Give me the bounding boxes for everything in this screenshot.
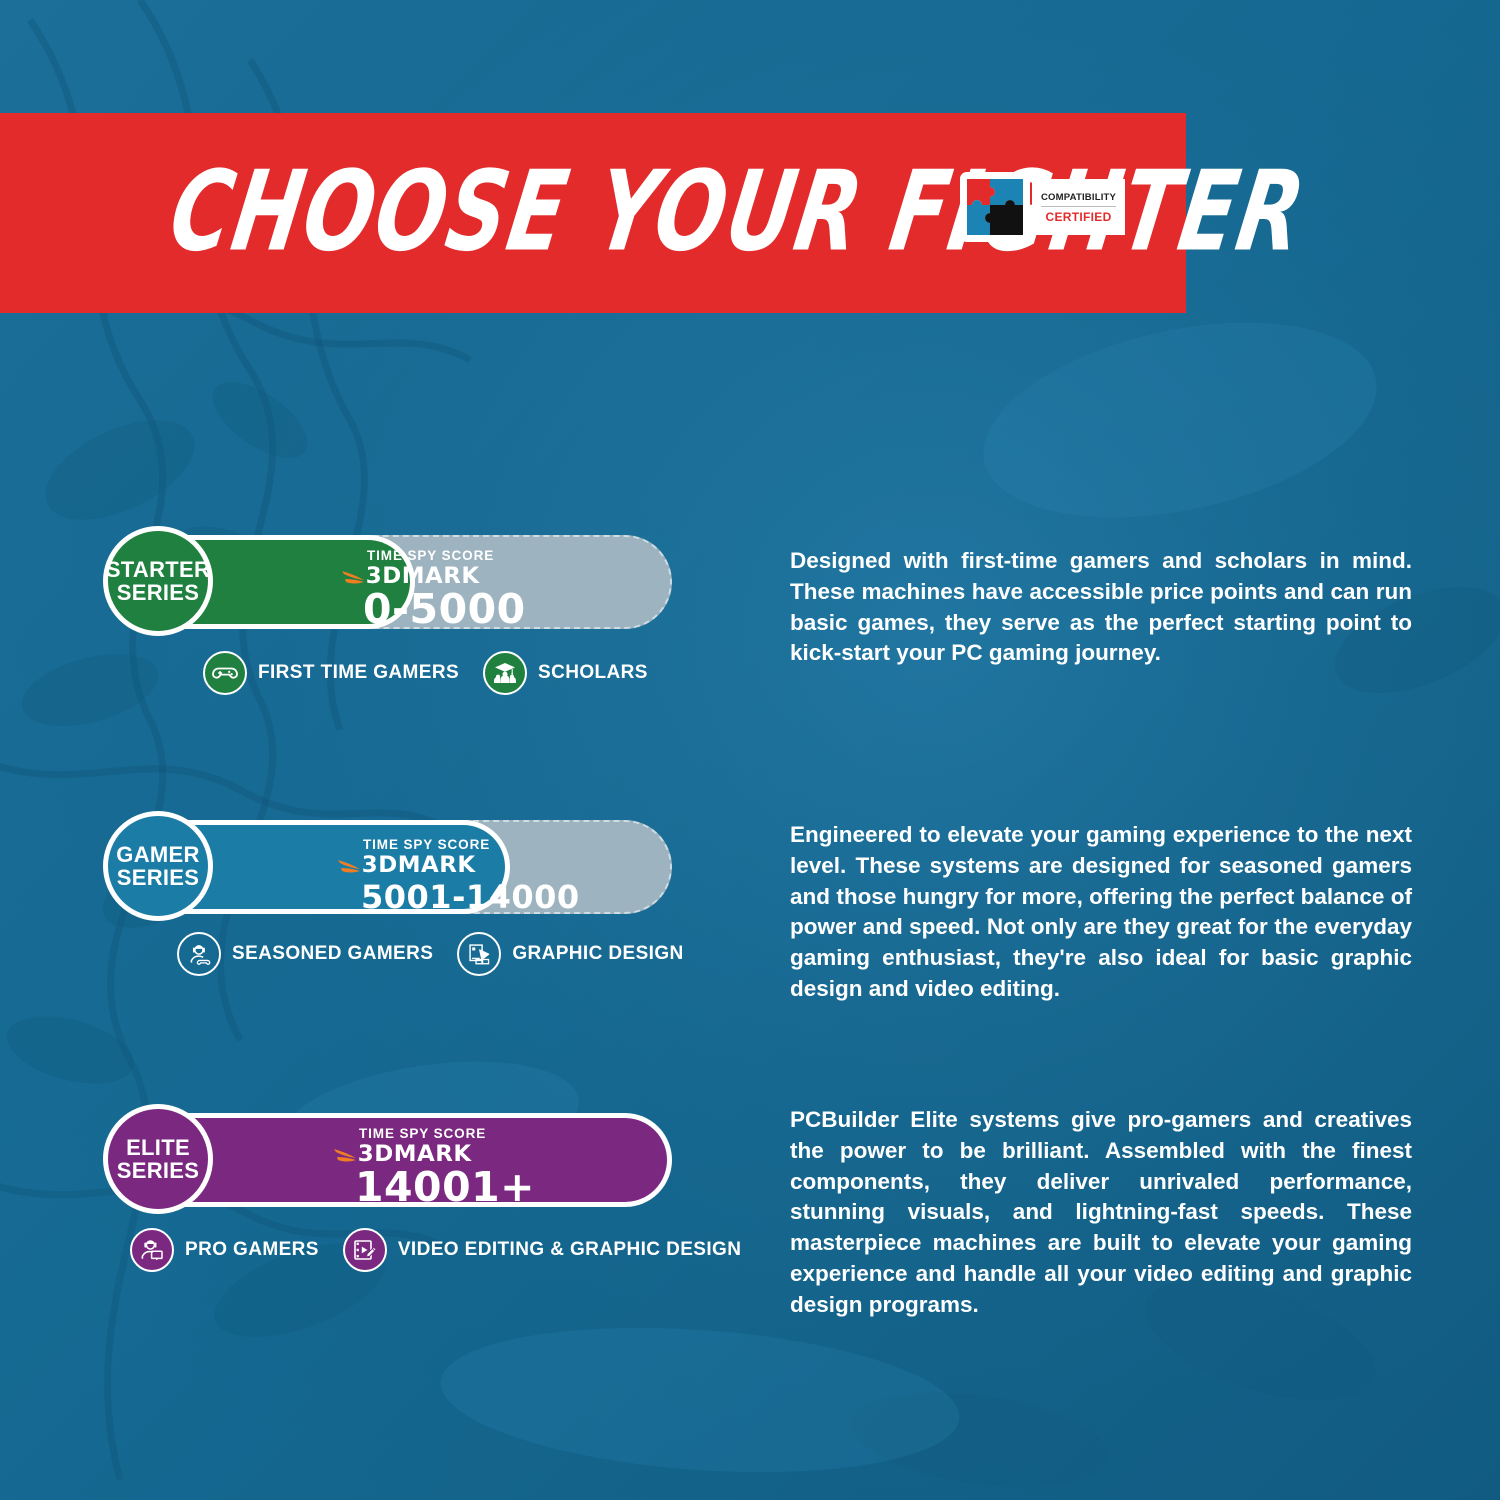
tag-scholars[interactable]: SCHOLARS <box>483 651 648 695</box>
tag-label: GRAPHIC DESIGN <box>512 943 683 965</box>
gamer-tags: SEASONED GAMERS GRAPHIC DESIGN <box>177 932 708 976</box>
elite-3dmark-logo: 3DMARK <box>333 1144 469 1166</box>
starter-name-line1: STARTER <box>106 558 210 581</box>
elite-score-label: TIME SPY SCORE <box>359 1127 486 1141</box>
page-title: CHOOSE YOUR FIGHTER <box>163 158 1312 269</box>
starter-bar[interactable]: STARTER SERIES TIME SPY SCORE 3DMARK 0-5… <box>105 535 672 629</box>
seasoned-gamer-icon <box>177 932 221 976</box>
gamer-score-label: TIME SPY SCORE <box>363 838 490 852</box>
gamer-bar[interactable]: GAMER SERIES TIME SPY SCORE 3DMARK 5001-… <box>105 820 672 914</box>
series-row-elite: ELITE SERIES TIME SPY SCORE 3DMARK 14001… <box>105 1113 672 1207</box>
series-row-gamer: GAMER SERIES TIME SPY SCORE 3DMARK 5001-… <box>105 820 672 914</box>
badge-certified-label: CERTIFIED <box>1046 211 1112 223</box>
elite-description: PCBuilder Elite systems give pro-gamers … <box>790 1105 1412 1321</box>
starter-score-value: 0-5000 <box>363 589 526 630</box>
swoosh-icon <box>333 1144 357 1166</box>
starter-brand-name: 3DMARK <box>366 566 480 588</box>
starter-name-line2: SERIES <box>117 581 200 604</box>
tag-video-editing-graphic-design[interactable]: VIDEO EDITING & GRAPHIC DESIGN <box>343 1228 741 1272</box>
gamer-brand-name: 3DMARK <box>362 855 476 877</box>
elite-score-block: TIME SPY SCORE 3DMARK 14001+ <box>333 1127 535 1208</box>
starter-score-block: TIME SPY SCORE 3DMARK 0-5000 <box>341 549 526 630</box>
swoosh-icon <box>337 855 361 877</box>
series-row-starter: STARTER SERIES TIME SPY SCORE 3DMARK 0-5… <box>105 535 672 629</box>
tag-label: VIDEO EDITING & GRAPHIC DESIGN <box>398 1239 741 1261</box>
starter-description: Designed with first-time gamers and scho… <box>790 546 1412 669</box>
gamer-name-line2: SERIES <box>117 866 200 889</box>
elite-brand-name: 3DMARK <box>358 1144 472 1166</box>
gamer-3dmark-logo: 3DMARK <box>337 855 473 877</box>
scholars-icon <box>483 651 527 695</box>
gamepad-icon <box>203 651 247 695</box>
elite-tags: PRO GAMERS VIDEO EDITING & GRAPHIC DESIG… <box>130 1228 765 1272</box>
gamer-name-line1: GAMER <box>116 843 199 866</box>
certified-text-panel: COMPATIBILITY CERTIFIED <box>1032 179 1125 235</box>
starter-score-label: TIME SPY SCORE <box>367 549 494 563</box>
tag-label: SCHOLARS <box>538 662 648 684</box>
starter-3dmark-logo: 3DMARK <box>341 566 477 588</box>
graphic-design-icon <box>457 932 501 976</box>
badge-compatibility-label: COMPATIBILITY <box>1041 193 1116 203</box>
elite-series-badge: ELITE SERIES <box>103 1104 213 1214</box>
tag-pro-gamers[interactable]: PRO GAMERS <box>130 1228 319 1272</box>
tag-label: PRO GAMERS <box>185 1239 319 1261</box>
compatibility-certified-badge: COMPATIBILITY CERTIFIED <box>960 172 1125 242</box>
starter-series-badge: STARTER SERIES <box>103 526 213 636</box>
gamer-score-block: TIME SPY SCORE 3DMARK 5001-14000 <box>337 838 580 913</box>
gamer-description: Engineered to elevate your gaming experi… <box>790 820 1412 1005</box>
tag-label: FIRST TIME GAMERS <box>258 662 459 684</box>
swoosh-icon <box>341 566 365 588</box>
elite-bar[interactable]: ELITE SERIES TIME SPY SCORE 3DMARK 14001… <box>105 1113 672 1207</box>
gamer-series-badge: GAMER SERIES <box>103 811 213 921</box>
pro-gamer-icon <box>130 1228 174 1272</box>
puzzle-icon <box>960 172 1030 242</box>
starter-tags: FIRST TIME GAMERS SCHOLARS <box>203 651 672 695</box>
tag-label: SEASONED GAMERS <box>232 943 433 965</box>
tag-first-time-gamers[interactable]: FIRST TIME GAMERS <box>203 651 459 695</box>
video-editing-icon <box>343 1228 387 1272</box>
tag-seasoned-gamers[interactable]: SEASONED GAMERS <box>177 932 433 976</box>
tag-graphic-design[interactable]: GRAPHIC DESIGN <box>457 932 683 976</box>
elite-name-line2: SERIES <box>117 1159 200 1182</box>
elite-name-line1: ELITE <box>126 1136 190 1159</box>
elite-score-value: 14001+ <box>355 1167 535 1208</box>
badge-divider <box>1041 206 1116 207</box>
gamer-score-value: 5001-14000 <box>361 881 580 913</box>
